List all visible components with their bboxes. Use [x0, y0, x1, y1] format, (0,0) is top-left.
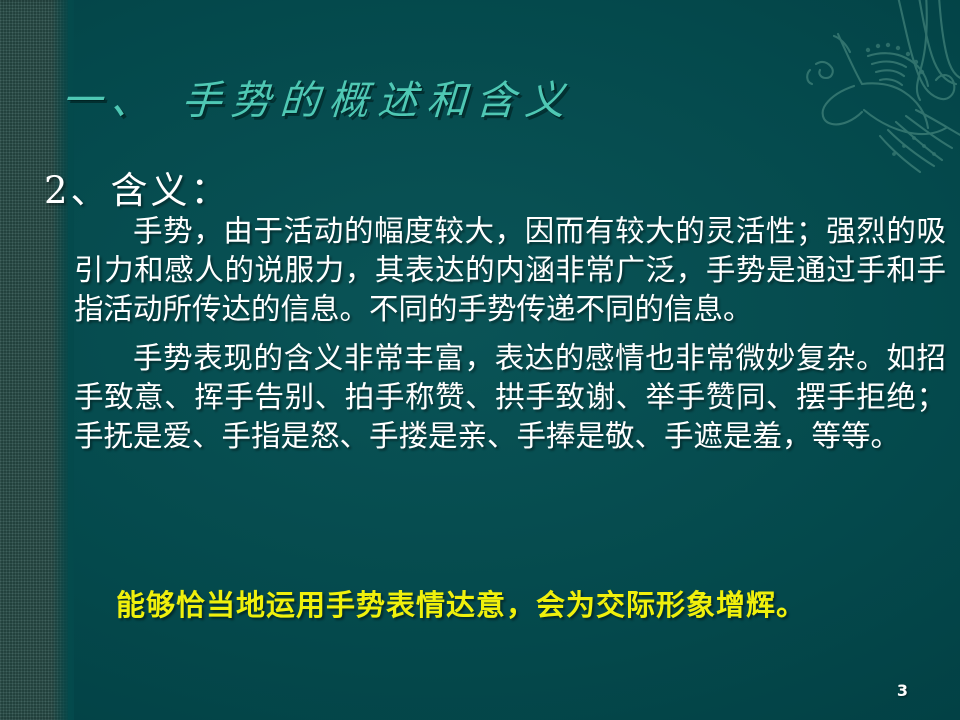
left-texture-band [0, 0, 68, 720]
page-number: 3 [897, 681, 908, 700]
slide-title: 一、 手势的概述和含义 [60, 68, 575, 126]
body-paragraph: 手势，由于活动的幅度较大，因而有较大的灵活性；强烈的吸引力和感人的说服力，其表达… [74, 212, 946, 329]
phoenix-watermark-icon [776, 0, 960, 180]
body-paragraph: 手势表现的含义非常丰富，表达的感情也非常微妙复杂。如招手致意、挥手告别、拍手称赞… [74, 339, 946, 456]
emphasis-text: 能够恰当地运用手势表情达意，会为交际形象增辉。 [116, 586, 806, 624]
section-heading: 2、含义： [44, 160, 231, 214]
body-text-block: 手势，由于活动的幅度较大，因而有较大的灵活性；强烈的吸引力和感人的说服力，其表达… [74, 212, 946, 456]
slide-canvas: 一、 手势的概述和含义 2、含义： 手势，由于活动的幅度较大，因而有较大的灵活性… [0, 0, 960, 720]
